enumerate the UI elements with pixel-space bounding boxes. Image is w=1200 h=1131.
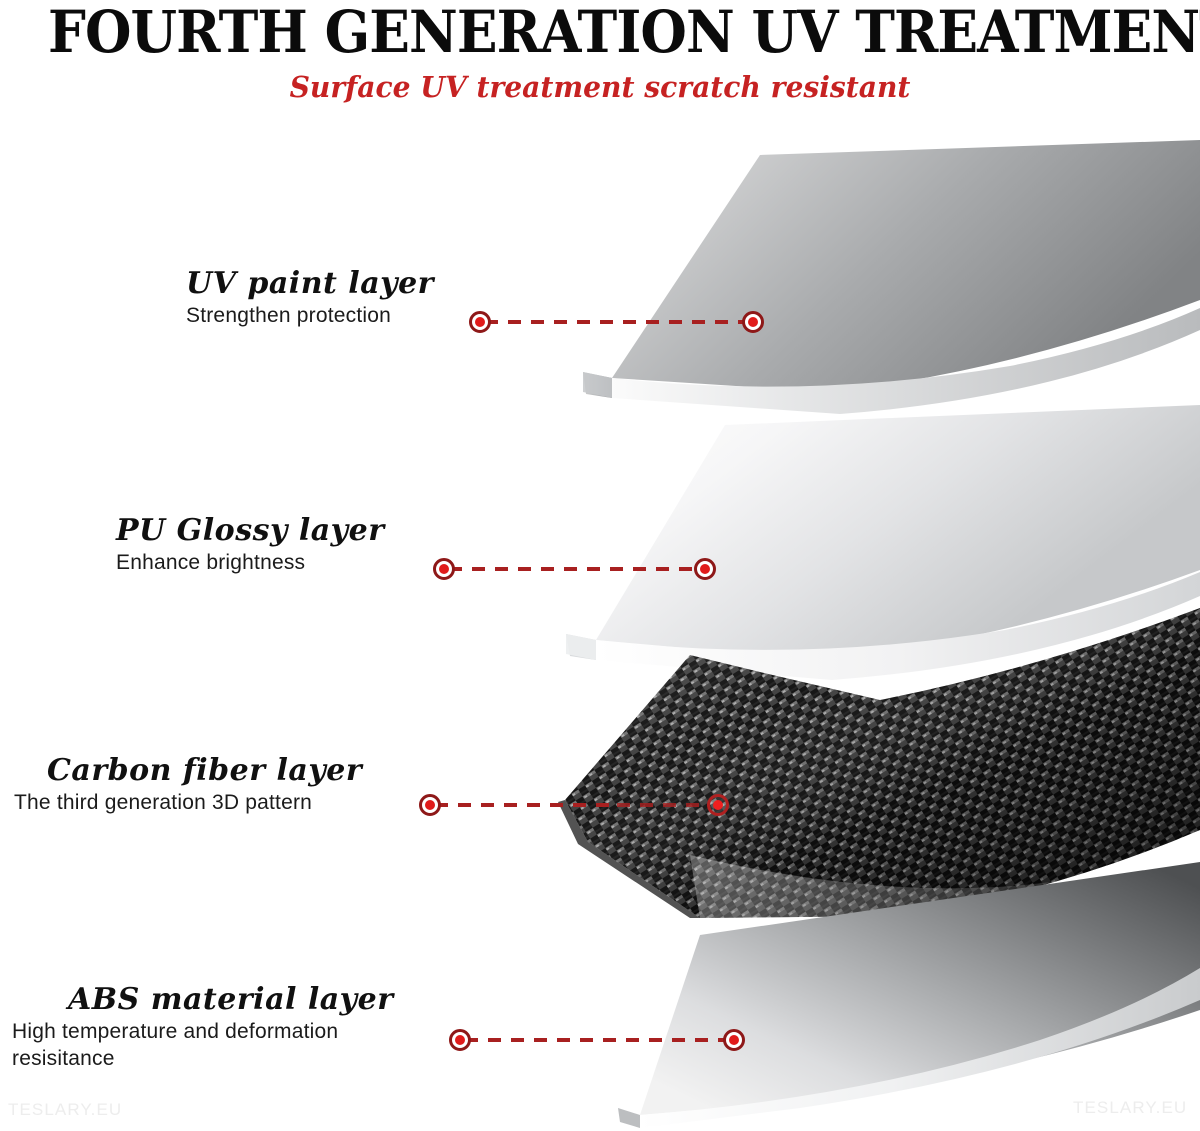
connector-dot-label-pu-glossy [433,558,455,580]
callout-abs-material-title: ABS material layer [68,982,442,1018]
callout-carbon-fiber-subtitle: The third generation 3D pattern [14,789,362,816]
callout-uv-paint-subtitle: Strengthen protection [186,302,434,329]
connector-dot-layer-pu-glossy [694,558,716,580]
callout-uv-paint: UV paint layer Strengthen protection [186,266,434,329]
connector-line-uv-paint [485,320,748,324]
watermark-right: TESLARY.EU [1073,1098,1187,1118]
infographic-canvas: FOURTH GENERATION UV TREATMENT Surface U… [0,0,1200,1131]
callout-pu-glossy-title: PU Glossy layer [116,513,385,549]
connector-pu-glossy [433,558,718,580]
connector-dot-label-abs-material [449,1029,471,1051]
callout-pu-glossy-subtitle: Enhance brightness [116,549,385,576]
watermark-left: TESLARY.EU [8,1100,122,1120]
callout-pu-glossy: PU Glossy layer Enhance brightness [116,513,385,576]
connector-uv-paint [469,311,764,333]
layer-shape-pu-glossy [566,405,1200,680]
connector-dot-layer-uv-paint [742,311,764,333]
callout-abs-material-subtitle: High temperature and deformation resisit… [12,1018,442,1072]
connector-dot-layer-abs-material [723,1029,745,1051]
connector-line-pu-glossy [449,567,700,571]
connector-dot-label-uv-paint [469,311,491,333]
connector-abs-material [449,1029,749,1051]
callout-abs-material: ABS material layer High temperature and … [68,982,442,1072]
connector-dot-layer-carbon-fiber [707,794,729,816]
connector-line-abs-material [465,1038,729,1042]
connector-carbon-fiber [419,794,739,816]
callout-uv-paint-title: UV paint layer [186,266,434,302]
layer-shape-uv-paint [583,140,1200,414]
callout-carbon-fiber: Carbon fiber layer The third generation … [47,753,362,816]
callout-carbon-fiber-title: Carbon fiber layer [47,753,362,789]
connector-line-carbon-fiber-over-weave [617,803,709,807]
connector-line-carbon-fiber [435,803,617,807]
connector-dot-label-carbon-fiber [419,794,441,816]
